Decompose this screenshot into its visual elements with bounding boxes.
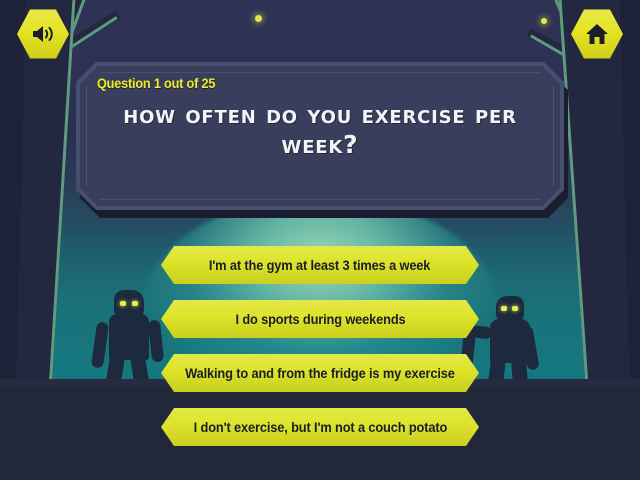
speaker-volume-icon <box>30 23 56 45</box>
quiz-screen: Question 1 out of 25 How often do you ex… <box>0 0 640 480</box>
answer-option-label: I do sports during weekends <box>235 312 405 327</box>
answer-option-label: I don't exercise, but I'm not a couch po… <box>193 420 447 435</box>
answer-list: I'm at the gym at least 3 times a week I… <box>0 246 640 446</box>
question-text: How often do you exercise per week? <box>76 100 564 159</box>
firefly-icon-2 <box>541 18 547 24</box>
home-icon <box>585 22 609 46</box>
answer-option-label: I'm at the gym at least 3 times a week <box>209 258 430 273</box>
answer-option-3[interactable]: Walking to and from the fridge is my exe… <box>161 354 479 392</box>
answer-option-label: Walking to and from the fridge is my exe… <box>185 366 455 381</box>
answer-option-4[interactable]: I don't exercise, but I'm not a couch po… <box>161 408 479 446</box>
answer-option-1[interactable]: I'm at the gym at least 3 times a week <box>161 246 479 284</box>
question-counter: Question 1 out of 25 <box>97 76 215 91</box>
firefly-icon <box>255 15 262 22</box>
question-panel: Question 1 out of 25 How often do you ex… <box>76 62 564 210</box>
answer-option-2[interactable]: I do sports during weekends <box>161 300 479 338</box>
